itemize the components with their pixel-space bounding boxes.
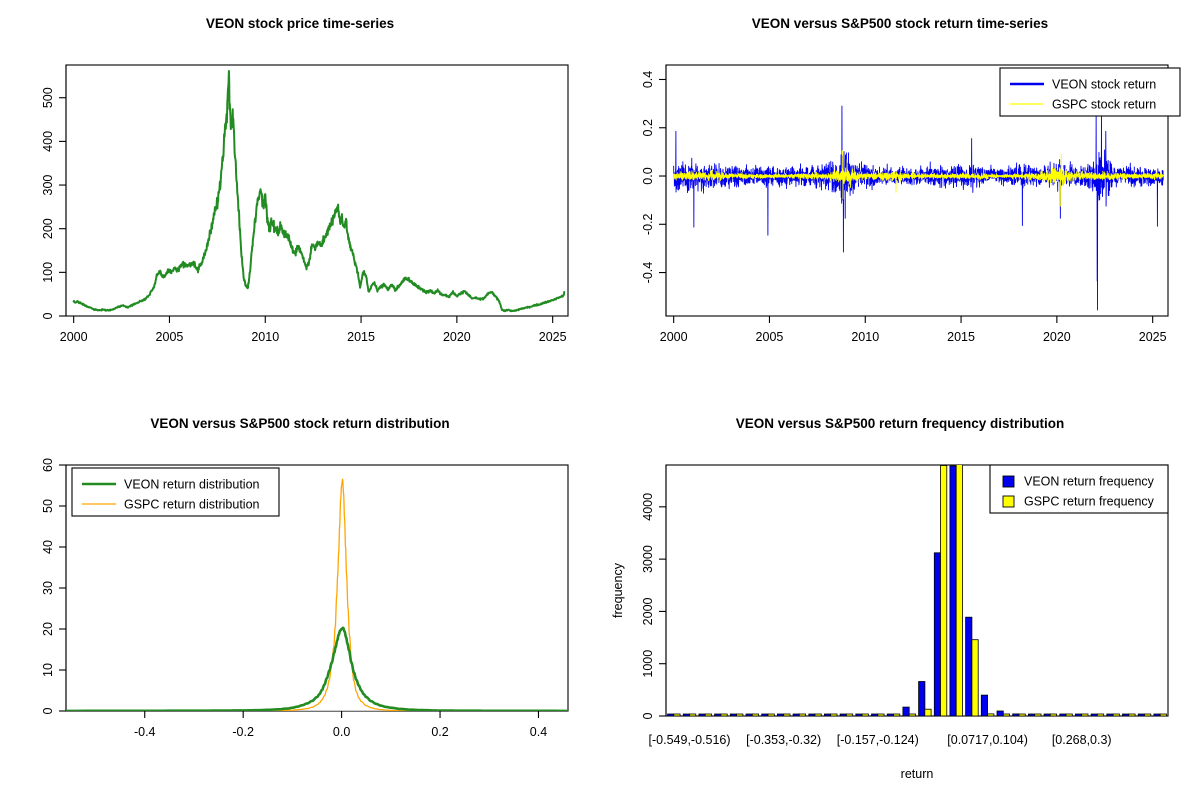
bar-veon [919, 682, 925, 717]
price-y-tick-label: 300 [41, 175, 55, 196]
bar-veon [1091, 714, 1097, 716]
chart-title: VEON versus S&P500 return frequency dist… [736, 416, 1065, 431]
legend-label-1: GSPC stock return [1052, 98, 1156, 112]
bar-veon [872, 714, 878, 716]
bar-veon [699, 714, 705, 716]
bar-gspc [909, 714, 915, 716]
chart-title: VEON versus S&P500 stock return distribu… [150, 416, 449, 431]
ret-y-tick-label: 0.0 [641, 167, 655, 184]
bar-gspc [846, 714, 852, 716]
price-x-tick-label: 2025 [539, 330, 567, 344]
bar-veon [1013, 714, 1019, 716]
bar-gspc [1003, 714, 1009, 716]
legend-label-1: GSPC return distribution [124, 498, 260, 512]
bar-veon [981, 695, 987, 716]
bar-veon [950, 466, 956, 716]
price-y-tick-label: 500 [41, 87, 55, 108]
bar-veon [887, 714, 893, 716]
bar-gspc [988, 714, 994, 716]
dist-x-tick-label: 0.4 [530, 725, 547, 739]
ret-y-tick-label: -0.2 [641, 213, 655, 235]
bar-gspc [815, 714, 821, 716]
price-y-tick-label: 0 [41, 312, 55, 319]
bar-gspc [894, 714, 900, 716]
price-x-tick-label: 2020 [443, 330, 471, 344]
freq-y-tick-label: 1000 [641, 650, 655, 678]
ret-x-tick-label: 2010 [851, 330, 879, 344]
freq-x-tick-label: [0.0717,0.104) [947, 733, 1028, 747]
bar-veon [856, 714, 862, 716]
legend-swatch-1 [1003, 496, 1014, 507]
bar-veon [762, 714, 768, 716]
bar-gspc [956, 400, 962, 716]
dist-y-tick-label: 20 [41, 622, 55, 636]
dist-x-tick-label: -0.4 [134, 725, 156, 739]
bar-gspc [752, 714, 758, 716]
freq-x-tick-label: [-0.549,-0.516) [649, 733, 731, 747]
bar-gspc [768, 714, 774, 716]
return-distribution-chart: VEON versus S&P500 stock return distribu… [0, 400, 600, 800]
price-y-tick-label: 400 [41, 131, 55, 152]
bar-gspc [1145, 714, 1151, 716]
bar-gspc [1066, 714, 1072, 716]
gspc-return-line [674, 151, 1164, 207]
bar-veon [934, 553, 940, 716]
chart-title: VEON versus S&P500 stock return time-ser… [752, 16, 1048, 31]
ret-y-tick-label: -0.4 [641, 262, 655, 284]
ret-x-tick-label: 2015 [947, 330, 975, 344]
bar-gspc [705, 714, 711, 716]
chart-title: VEON stock price time-series [206, 16, 394, 31]
dist-x-tick-label: -0.2 [232, 725, 254, 739]
price-y-tick-label: 200 [41, 218, 55, 239]
dist-y-tick-label: 40 [41, 540, 55, 554]
bar-veon [1123, 714, 1129, 716]
dist-y-tick-label: 0 [41, 707, 55, 714]
bar-veon [730, 714, 736, 716]
veon-return-line [674, 106, 1164, 310]
veon-price-chart: VEON stock price time-series 20002005201… [0, 0, 600, 400]
ret-y-tick-label: 0.4 [641, 71, 655, 88]
bar-veon [1060, 714, 1066, 716]
bar-gspc [784, 714, 790, 716]
bar-veon [793, 714, 799, 716]
price-series-group [74, 71, 565, 311]
price-x-tick-label: 2005 [156, 330, 184, 344]
legend-swatch-0 [1003, 476, 1014, 487]
bar-veon [840, 714, 846, 716]
dist-y-tick-label: 60 [41, 458, 55, 472]
panel-veon-price-timeseries: VEON stock price time-series 20002005201… [0, 0, 600, 400]
y-axis-title: frequency [611, 562, 625, 618]
legend: VEON return distributionGSPC return dist… [72, 468, 279, 516]
bar-gspc [1019, 714, 1025, 716]
bar-gspc [737, 714, 743, 716]
price-y-tick-label: 100 [41, 262, 55, 283]
bar-gspc [925, 709, 931, 716]
legend: VEON stock returnGSPC stock return [1000, 68, 1180, 116]
veon-density-line [66, 628, 568, 711]
bar-gspc [721, 714, 727, 716]
veon-price-line [74, 71, 565, 311]
bar-gspc [1050, 714, 1056, 716]
freq-x-tick-label: [0.268,0.3) [1052, 733, 1112, 747]
bar-gspc [674, 714, 680, 716]
legend-label-1: GSPC return frequency [1024, 495, 1155, 509]
price-x-tick-label: 2000 [60, 330, 88, 344]
bar-gspc [1035, 714, 1041, 716]
legend-label-0: VEON stock return [1052, 78, 1156, 92]
price-x-tick-label: 2010 [251, 330, 279, 344]
bar-veon [777, 714, 783, 716]
dist-x-tick-label: 0.0 [333, 725, 350, 739]
bar-gspc [1097, 714, 1103, 716]
bar-gspc [1113, 714, 1119, 716]
bar-veon [1154, 714, 1160, 716]
bar-gspc [1082, 714, 1088, 716]
bar-gspc [799, 714, 805, 716]
bar-gspc [862, 714, 868, 716]
freq-y-tick-label: 4000 [641, 493, 655, 521]
r-plot-figure: VEON stock price time-series 20002005201… [0, 0, 1200, 800]
freq-y-tick-label: 2000 [641, 597, 655, 625]
freq-y-tick-label: 0 [641, 712, 655, 719]
x-axis-title: return [901, 767, 934, 781]
panel-return-frequency: VEON versus S&P500 return frequency dist… [600, 400, 1200, 800]
bar-veon [903, 707, 909, 716]
plot-box [66, 65, 568, 316]
dist-y-tick-label: 10 [41, 663, 55, 677]
bars-group [668, 400, 1167, 716]
bar-veon [1028, 714, 1034, 716]
bar-gspc [690, 714, 696, 716]
panel-return-distribution: VEON versus S&P500 stock return distribu… [0, 400, 600, 800]
bar-gspc [1129, 714, 1135, 716]
bar-veon [997, 711, 1003, 716]
bar-veon [746, 714, 752, 716]
bar-veon [1075, 714, 1081, 716]
ret-y-tick-label: 0.2 [641, 119, 655, 136]
bar-gspc [878, 714, 884, 716]
bar-gspc [941, 466, 947, 717]
ret-x-tick-label: 2000 [660, 330, 688, 344]
return-series-group [674, 106, 1164, 310]
freq-y-tick-label: 3000 [641, 545, 655, 573]
bar-veon [668, 714, 674, 716]
dist-y-tick-label: 30 [41, 581, 55, 595]
ret-x-tick-label: 2020 [1043, 330, 1071, 344]
panel-return-timeseries: VEON versus S&P500 stock return time-ser… [600, 0, 1200, 400]
freq-x-tick-label: [-0.353,-0.32) [746, 733, 821, 747]
ret-x-tick-label: 2025 [1139, 330, 1167, 344]
price-x-tick-label: 2015 [347, 330, 375, 344]
ret-x-tick-label: 2005 [756, 330, 784, 344]
return-timeseries-chart: VEON versus S&P500 stock return time-ser… [600, 0, 1200, 400]
bar-veon [1044, 714, 1050, 716]
dist-x-tick-label: 0.2 [431, 725, 448, 739]
bar-veon [715, 714, 721, 716]
bar-gspc [1160, 714, 1166, 716]
legend: VEON return frequencyGSPC return frequen… [990, 465, 1168, 513]
freq-x-tick-label: [-0.157,-0.124) [837, 733, 919, 747]
bar-gspc [972, 640, 978, 716]
bar-veon [966, 617, 972, 716]
bar-veon [1107, 714, 1113, 716]
dist-y-tick-label: 50 [41, 499, 55, 513]
bar-veon [683, 714, 689, 716]
legend-label-0: VEON return frequency [1024, 475, 1155, 489]
bar-gspc [831, 714, 837, 716]
bar-veon [824, 714, 830, 716]
bar-veon [1138, 714, 1144, 716]
bar-veon [809, 714, 815, 716]
legend-label-0: VEON return distribution [124, 478, 260, 492]
return-frequency-chart: VEON versus S&P500 return frequency dist… [600, 400, 1200, 800]
